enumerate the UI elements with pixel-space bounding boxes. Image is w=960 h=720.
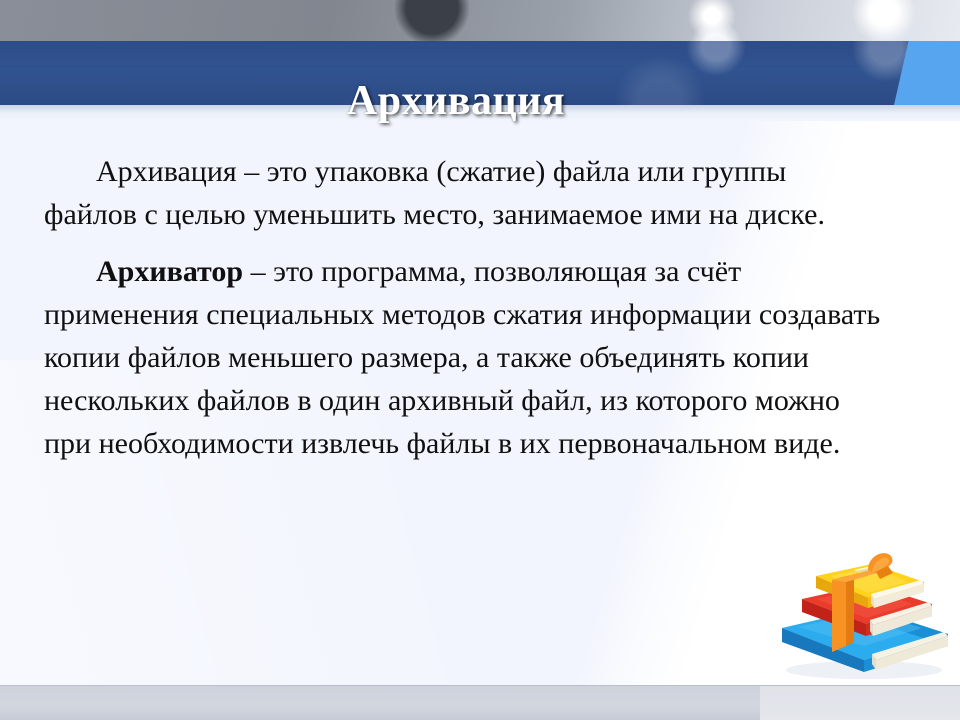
stack-of-books-icon xyxy=(772,542,952,682)
slide-header: Архивация xyxy=(0,0,960,118)
paragraph-text: Архивация – это упаковка (сжатие) файла … xyxy=(44,155,825,231)
footer-bar-right-segment xyxy=(760,686,960,720)
paragraph-definition-archiving: Архивация – это упаковка (сжатие) файла … xyxy=(44,150,886,236)
paragraph-definition-archiver: Архиватор – это программа, позволяющая з… xyxy=(44,250,886,465)
page-title: Архивация xyxy=(0,69,912,133)
slide-content: Архивация – это упаковка (сжатие) файла … xyxy=(44,150,886,475)
term-archiver: Архиватор xyxy=(96,255,243,288)
slide: Архивация Архивация – это упаковка (сжат… xyxy=(0,0,960,720)
